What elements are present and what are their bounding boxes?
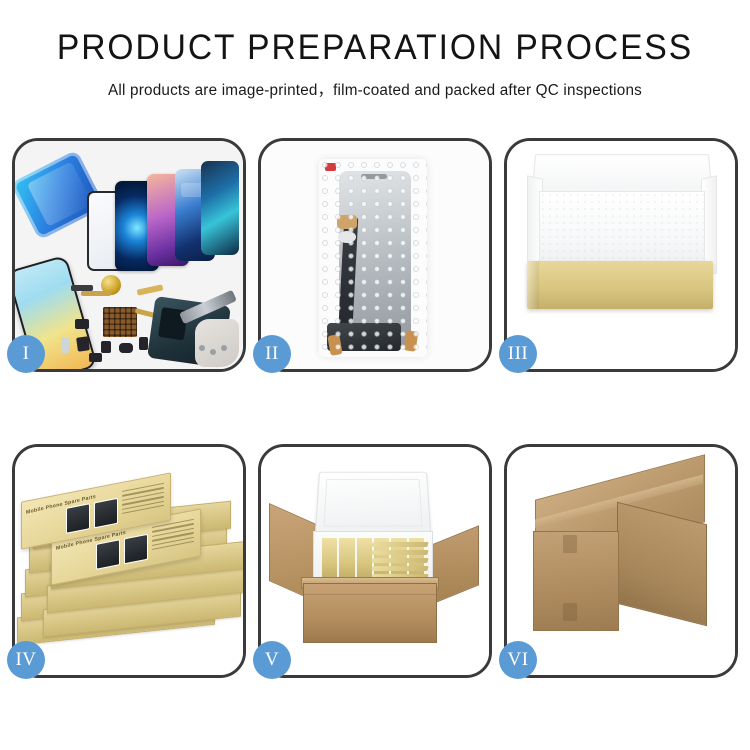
box-screen-print-icon xyxy=(96,539,120,570)
gold-contact-icon xyxy=(404,330,419,351)
step-badge-2: II xyxy=(253,335,291,373)
step-1-image xyxy=(15,141,243,369)
page-subtitle: All products are image-printed，film-coat… xyxy=(6,78,745,100)
process-step-4[interactable]: Mobile Phone Spare Parts Mobile Phone Sp… xyxy=(12,444,246,678)
small-part-icon xyxy=(89,353,102,362)
step-badge-5: V xyxy=(253,641,291,679)
foam-texture xyxy=(540,192,704,270)
step-3-image xyxy=(507,141,735,369)
bubble-wrap-bag-icon xyxy=(319,159,427,357)
chip-array-icon xyxy=(103,307,137,337)
carton-handle-icon xyxy=(563,535,577,553)
box-screen-print-icon xyxy=(94,498,118,529)
product-preparation-infographic: PRODUCT PREPARATION PROCESS All products… xyxy=(0,0,750,750)
process-step-6[interactable]: VI xyxy=(504,444,738,678)
box-spec-lines xyxy=(152,519,194,557)
carton-flap-right-icon xyxy=(431,525,479,604)
step-2-image xyxy=(261,141,489,369)
screws-icon xyxy=(199,345,229,357)
white-foam-sheet-icon xyxy=(539,191,705,271)
step-badge-4: IV xyxy=(7,641,45,679)
small-part-icon xyxy=(139,337,148,350)
connector-icon xyxy=(338,231,356,243)
box-screen-print-icon xyxy=(124,534,148,565)
gold-box-tray-icon xyxy=(527,261,713,309)
gold-box-stack: Mobile Phone Spare Parts Mobile Phone Sp… xyxy=(17,471,243,663)
step-5-image xyxy=(261,447,489,675)
process-step-1[interactable]: I xyxy=(12,138,246,372)
hand-icon xyxy=(195,319,239,367)
small-part-icon xyxy=(76,336,90,352)
carton-side-icon xyxy=(617,502,707,626)
header: PRODUCT PREPARATION PROCESS All products… xyxy=(0,0,750,100)
process-step-5[interactable]: V xyxy=(258,444,492,678)
foam-lid-icon xyxy=(315,472,432,535)
step-4-image: Mobile Phone Spare Parts Mobile Phone Sp… xyxy=(15,447,243,675)
flex-cable-icon xyxy=(137,284,164,295)
small-part-icon xyxy=(101,341,111,353)
process-step-grid: I II xyxy=(12,138,738,678)
step-badge-1: I xyxy=(7,335,45,373)
box-screen-print-icon xyxy=(66,503,90,534)
connector-icon xyxy=(337,215,357,229)
carton-handle-icon xyxy=(563,603,577,621)
flex-cable-icon xyxy=(81,291,111,296)
step-badge-3: III xyxy=(499,335,537,373)
gold-boxes-row-angled xyxy=(372,542,428,580)
step-6-image xyxy=(507,447,735,675)
small-part-icon xyxy=(119,343,133,353)
step-badge-6: VI xyxy=(499,641,537,679)
carton-front-icon xyxy=(303,583,437,643)
small-part-icon xyxy=(75,319,89,329)
page-title: PRODUCT PREPARATION PROCESS xyxy=(15,30,735,65)
box-spec-lines xyxy=(122,483,164,521)
process-step-2[interactable]: II xyxy=(258,138,492,372)
phone-teal-wallpaper-icon xyxy=(201,161,239,255)
small-part-icon xyxy=(61,337,69,353)
process-step-3[interactable]: III xyxy=(504,138,738,372)
red-label-icon xyxy=(325,163,336,171)
